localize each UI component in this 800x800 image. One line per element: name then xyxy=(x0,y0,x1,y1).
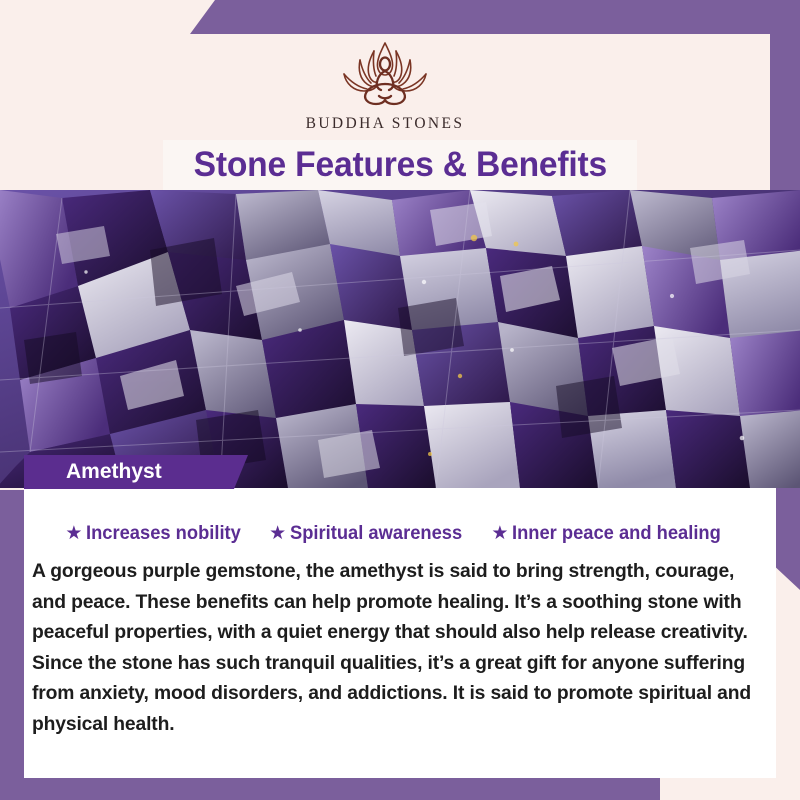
feature-label: Increases nobility xyxy=(86,522,241,545)
star-icon: ★ xyxy=(491,524,508,543)
feature-item: ★ Inner peace and healing xyxy=(491,522,734,545)
decorative-left-purple-band xyxy=(0,490,24,800)
feature-item: ★ Increases nobility xyxy=(65,522,251,545)
features-row: ★ Increases nobility ★ Spiritual awarene… xyxy=(24,516,776,550)
decorative-bottom-purple-band xyxy=(0,778,660,800)
star-icon: ★ xyxy=(65,524,82,543)
feature-label: Spiritual awareness xyxy=(290,522,462,545)
feature-label: Inner peace and healing xyxy=(512,522,721,545)
page-title: Stone Features & Benefits xyxy=(193,145,606,185)
brand-name: BUDDHA STONES xyxy=(306,115,465,133)
title-band: Stone Features & Benefits xyxy=(163,140,637,190)
stone-name-label: Amethyst xyxy=(24,460,162,484)
lotus-meditation-figure-icon xyxy=(331,38,439,114)
infographic-poster: BUDDHA STONES Stone Features & Benefits xyxy=(0,0,800,800)
stone-name-banner: Amethyst xyxy=(24,455,248,489)
stone-description: A gorgeous purple gemstone, the amethyst… xyxy=(32,556,763,739)
star-icon: ★ xyxy=(269,524,286,543)
feature-item: ★ Spiritual awareness xyxy=(269,522,473,545)
amethyst-crystal-cluster-photo xyxy=(0,190,800,488)
